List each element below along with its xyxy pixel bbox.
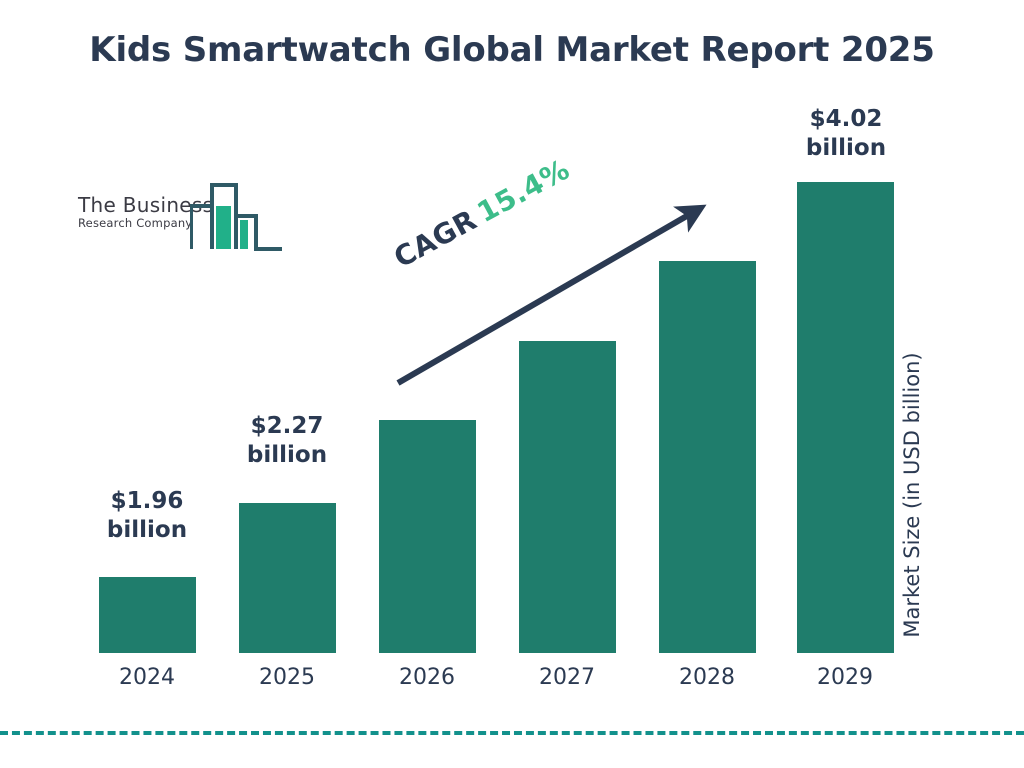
bar-2027 [519, 341, 616, 653]
bar-value-2029-amount: $4.02 [776, 105, 916, 134]
y-axis-title-text: Market Size (in USD billion) [900, 330, 924, 660]
cagr-value: 15.4% [472, 153, 575, 230]
footer-divider [0, 731, 1024, 735]
bar-2025 [239, 503, 336, 653]
bar-value-2025-unit: billion [217, 441, 357, 470]
bar-2024 [99, 577, 196, 653]
bar-value-2024: $1.96 billion [77, 487, 217, 545]
bar-value-2024-amount: $1.96 [77, 487, 217, 516]
chart-page: Kids Smartwatch Global Market Report 202… [0, 0, 1024, 768]
bar-2026 [379, 420, 476, 653]
cagr-annotation: CAGR15.4% [388, 136, 609, 281]
cagr-label: CAGR [388, 203, 482, 274]
bar-value-2025-amount: $2.27 [217, 412, 357, 441]
bar-chart-plot-area: $1.96 billion $2.27 billion $4.02 billio… [0, 0, 1024, 768]
x-tick-2029: 2029 [775, 665, 915, 690]
x-tick-2028: 2028 [637, 665, 777, 690]
x-tick-2024: 2024 [77, 665, 217, 690]
bar-value-2029: $4.02 billion [776, 105, 916, 163]
x-tick-2026: 2026 [357, 665, 497, 690]
x-tick-2025: 2025 [217, 665, 357, 690]
bar-value-2029-unit: billion [776, 134, 916, 163]
y-axis-title: Market Size (in USD billion) [900, 10, 932, 330]
bar-value-2024-unit: billion [77, 516, 217, 545]
x-tick-2027: 2027 [497, 665, 637, 690]
bar-2028 [659, 261, 756, 653]
bar-2029 [797, 182, 894, 653]
bar-value-2025: $2.27 billion [217, 412, 357, 470]
